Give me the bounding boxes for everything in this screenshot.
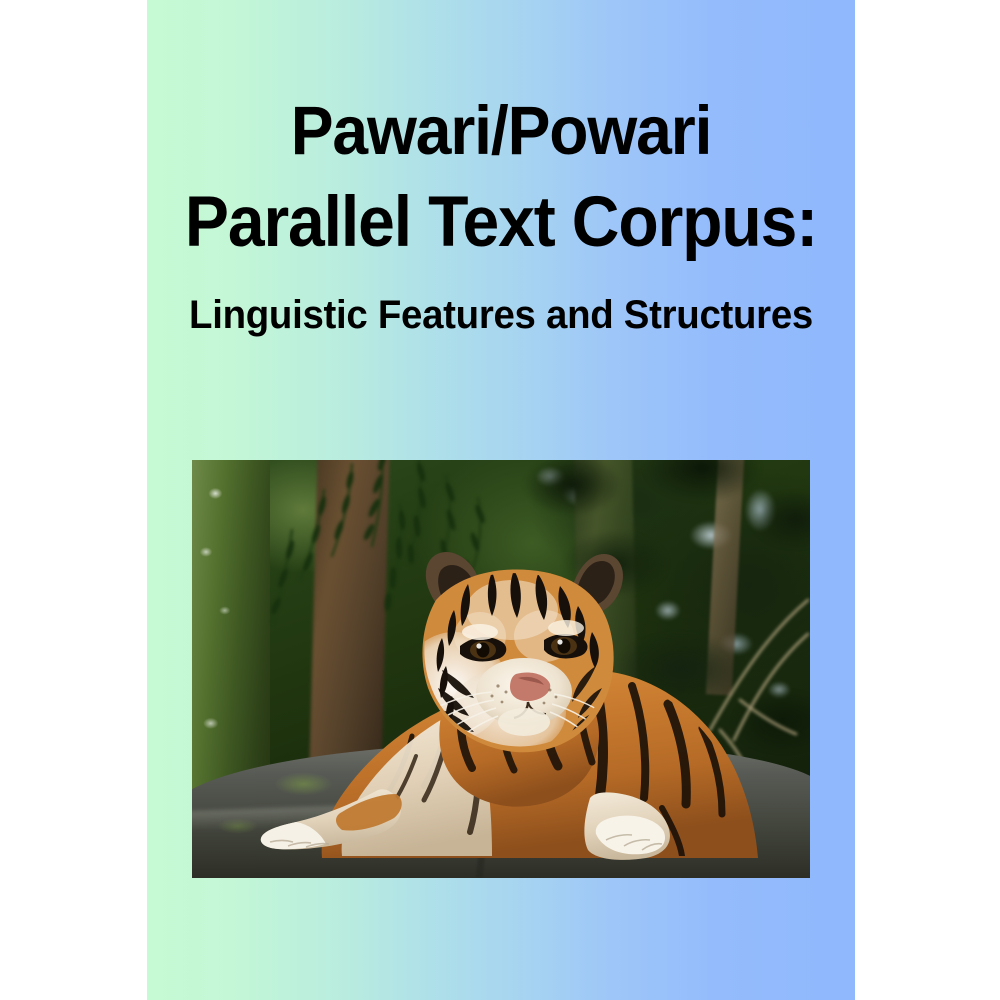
- tiger: [192, 460, 810, 878]
- book-cover-panel: Pawari/Powari Parallel Text Corpus: Ling…: [147, 0, 855, 1000]
- cover-photo: [192, 460, 810, 878]
- page-title: Pawari/Powari Parallel Text Corpus:: [147, 96, 855, 258]
- title-line-2: Parallel Text Corpus:: [172, 187, 830, 258]
- screenshot-canvas: Pawari/Powari Parallel Text Corpus: Ling…: [0, 0, 1000, 1000]
- page-subtitle: Linguistic Features and Structures: [161, 293, 841, 338]
- title-line-1: Pawari/Powari: [172, 96, 830, 165]
- jungle-tiger-photo: [192, 460, 810, 878]
